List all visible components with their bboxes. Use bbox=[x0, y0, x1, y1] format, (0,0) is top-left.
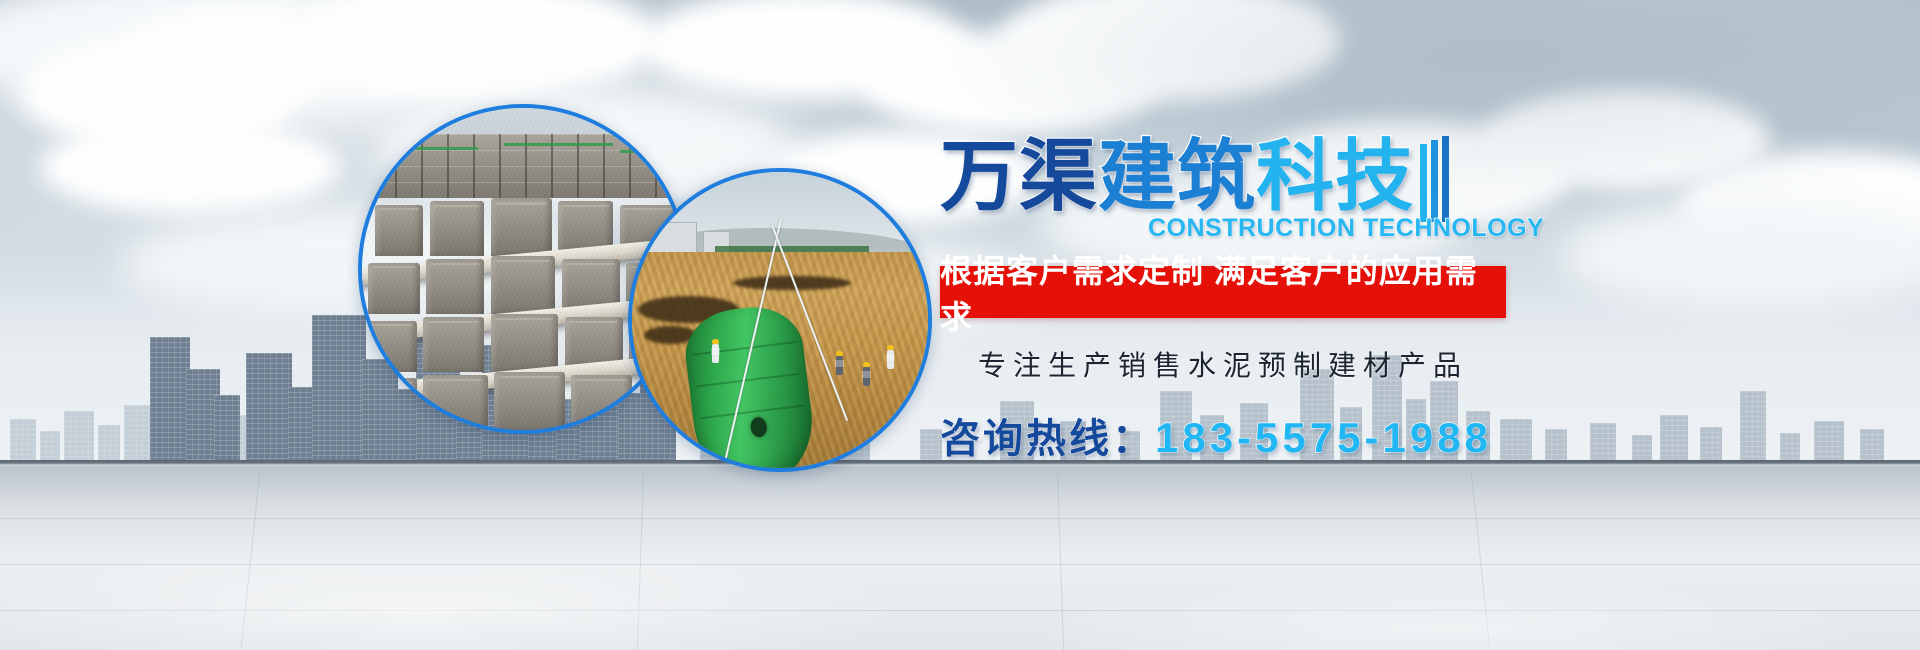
logo-char-5: 科 bbox=[1256, 130, 1335, 222]
hotline-label: 咨询热线： bbox=[940, 417, 1155, 461]
hotline-number[interactable]: 183-5575-1988 bbox=[1155, 414, 1492, 461]
logo-char-4: 筑 bbox=[1177, 130, 1256, 222]
marketing-text-block: 万渠建筑科技 CONSTRUCTION TECHNOLOGY 根据客户需求定制 … bbox=[940, 130, 1640, 464]
company-logo-title: 万渠建筑科技 bbox=[940, 130, 1640, 226]
logo-char-2: 渠 bbox=[1019, 130, 1098, 222]
logo-accent-bars-icon bbox=[1420, 130, 1453, 227]
promo-banner: 万渠建筑科技 CONSTRUCTION TECHNOLOGY 根据客户需求定制 … bbox=[0, 0, 1920, 650]
red-slogan-text: 根据客户需求定制 满足客户的应用需求 bbox=[940, 246, 1506, 338]
red-slogan-banner: 根据客户需求定制 满足客户的应用需求 bbox=[940, 266, 1506, 318]
logo-char-6: 技 bbox=[1335, 130, 1414, 222]
photo-septic-tank-installation[interactable] bbox=[628, 168, 932, 472]
reflective-floor bbox=[0, 460, 1920, 650]
english-subtitle: CONSTRUCTION TECHNOLOGY bbox=[1148, 214, 1544, 243]
tagline-text: 专注生产销售水泥预制建材产品 bbox=[940, 344, 1506, 384]
logo-char-3: 建 bbox=[1098, 130, 1177, 222]
hotline-row: 咨询热线：183-5575-1988 bbox=[940, 406, 1640, 464]
english-subtitle-row: CONSTRUCTION TECHNOLOGY bbox=[1148, 214, 1640, 244]
logo-char-1: 万 bbox=[940, 130, 1019, 222]
